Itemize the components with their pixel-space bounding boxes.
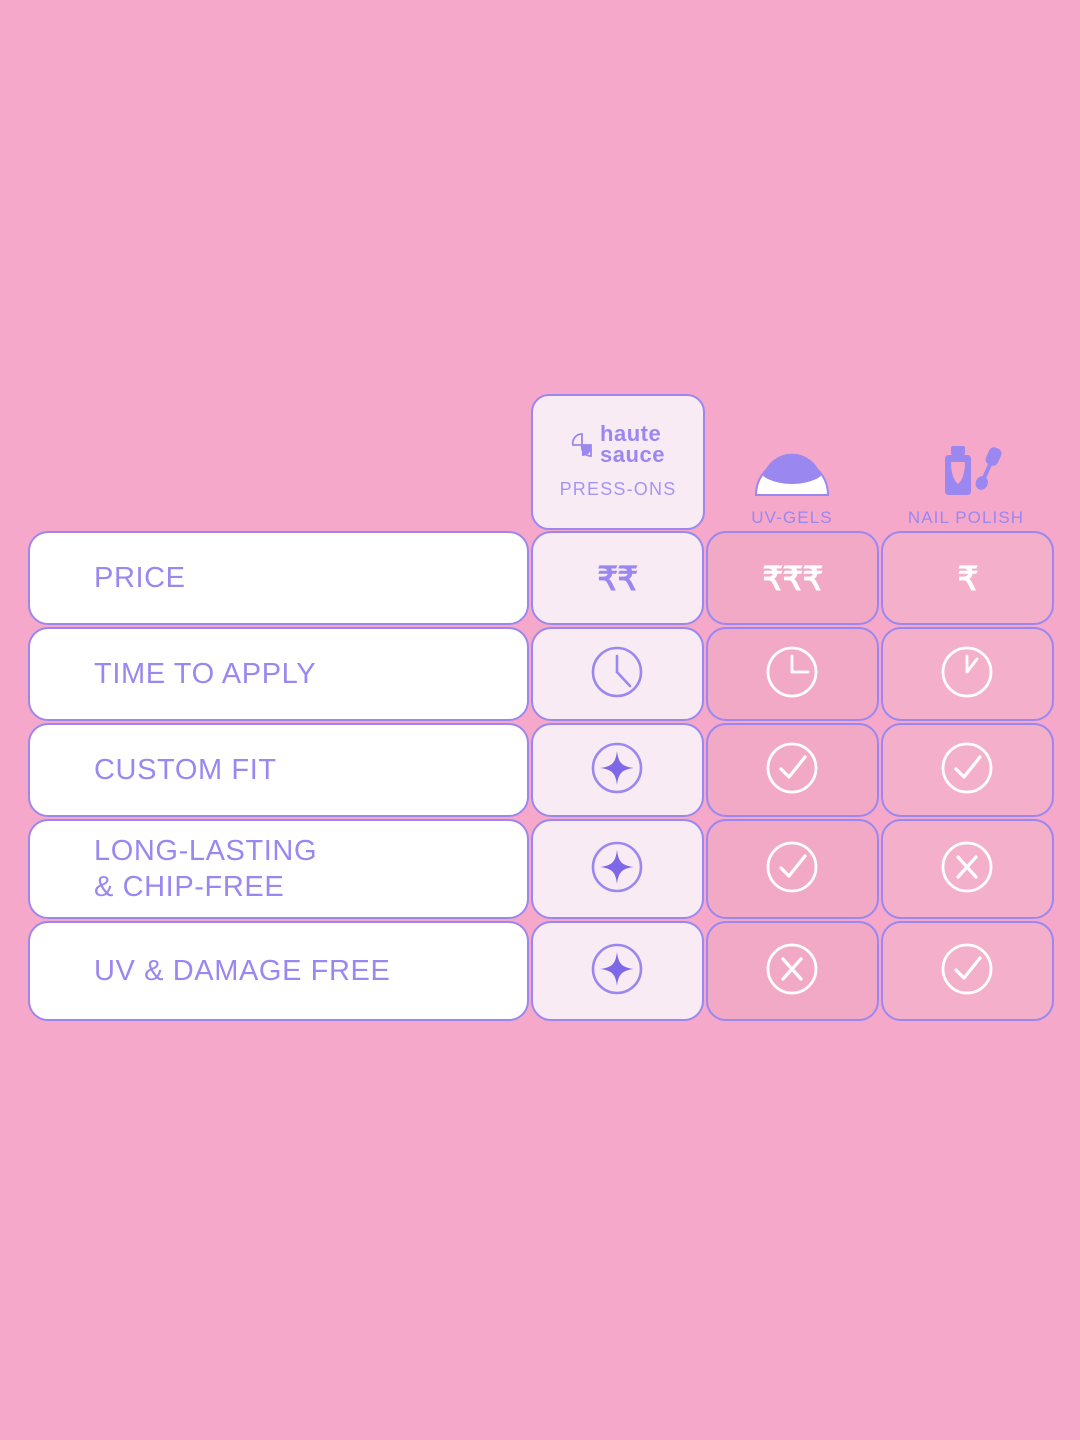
cell-price-nail-polish: ₹ bbox=[881, 531, 1054, 625]
uv-lamp-icon bbox=[753, 444, 831, 498]
nail-polish-bottle-icon bbox=[927, 444, 1005, 498]
cell-time-press-ons bbox=[531, 627, 704, 721]
table-row-price: PRICE ₹₹ ₹₹₹ ₹ bbox=[28, 531, 1054, 625]
row-label-custom-fit: CUSTOM FIT bbox=[28, 723, 529, 817]
brand-wordmark: haute sauce bbox=[600, 424, 665, 464]
row-label-price: PRICE bbox=[28, 531, 529, 625]
cell-uv-damage-free-press-ons bbox=[531, 921, 704, 1021]
haute-sauce-mark-icon bbox=[571, 432, 593, 458]
cell-long-lasting-uv-gels bbox=[706, 819, 879, 919]
clock-icon bbox=[940, 645, 994, 704]
check-circle-icon bbox=[940, 942, 994, 1001]
table-row-custom-fit: CUSTOM FIT bbox=[28, 723, 1054, 817]
cell-price-uv-gels: ₹₹₹ bbox=[706, 531, 879, 625]
cross-circle-icon bbox=[940, 840, 994, 899]
cell-long-lasting-press-ons bbox=[531, 819, 704, 919]
clock-icon bbox=[765, 645, 819, 704]
cell-uv-damage-free-nail-polish bbox=[881, 921, 1054, 1021]
sparkle-circle-icon bbox=[590, 942, 644, 1001]
column-header-label-nail-polish: NAIL POLISH bbox=[908, 508, 1024, 528]
sparkle-circle-icon bbox=[590, 840, 644, 899]
column-header-press-ons: haute sauce PRESS-ONS bbox=[531, 394, 705, 530]
check-circle-icon bbox=[940, 741, 994, 800]
table-row-uv-damage-free: UV & DAMAGE FREE bbox=[28, 921, 1054, 1021]
cell-price-press-ons: ₹₹ bbox=[531, 531, 704, 625]
row-label-uv-damage-free: UV & DAMAGE FREE bbox=[28, 921, 529, 1021]
rupee-icon: ₹ bbox=[957, 559, 977, 598]
cell-custom-fit-uv-gels bbox=[706, 723, 879, 817]
cell-long-lasting-nail-polish bbox=[881, 819, 1054, 919]
column-header-uv-gels: UV-GELS bbox=[705, 394, 879, 530]
cell-custom-fit-nail-polish bbox=[881, 723, 1054, 817]
column-header-label-uv-gels: UV-GELS bbox=[751, 508, 832, 528]
table-header-strip: haute sauce PRESS-ONS UV-GELS bbox=[531, 394, 1054, 530]
sparkle-circle-icon bbox=[590, 741, 644, 800]
comparison-table: PRICE ₹₹ ₹₹₹ ₹ TIME TO APPLY bbox=[28, 531, 1054, 1023]
comparison-board: haute sauce PRESS-ONS UV-GELS bbox=[0, 0, 1080, 1440]
cell-time-nail-polish bbox=[881, 627, 1054, 721]
brand-word-line2: sauce bbox=[600, 445, 665, 465]
rupee-icon: ₹₹₹ bbox=[762, 559, 822, 598]
table-row-long-lasting: LONG-LASTING & CHIP-FREE bbox=[28, 819, 1054, 919]
column-header-nail-polish: NAIL POLISH bbox=[879, 394, 1053, 530]
cell-custom-fit-press-ons bbox=[531, 723, 704, 817]
table-row-time-to-apply: TIME TO APPLY bbox=[28, 627, 1054, 721]
cross-circle-icon bbox=[765, 942, 819, 1001]
column-header-label-press-ons: PRESS-ONS bbox=[560, 479, 677, 500]
check-circle-icon bbox=[765, 840, 819, 899]
clock-icon bbox=[590, 645, 644, 704]
check-circle-icon bbox=[765, 741, 819, 800]
row-label-long-lasting: LONG-LASTING & CHIP-FREE bbox=[28, 819, 529, 919]
row-label-long-lasting-line2: & CHIP-FREE bbox=[94, 871, 284, 903]
rupee-icon: ₹₹ bbox=[597, 559, 637, 598]
row-label-long-lasting-line1: LONG-LASTING bbox=[94, 835, 317, 867]
cell-time-uv-gels bbox=[706, 627, 879, 721]
brand-logo: haute sauce bbox=[571, 424, 665, 464]
cell-uv-damage-free-uv-gels bbox=[706, 921, 879, 1021]
row-label-time-to-apply: TIME TO APPLY bbox=[28, 627, 529, 721]
